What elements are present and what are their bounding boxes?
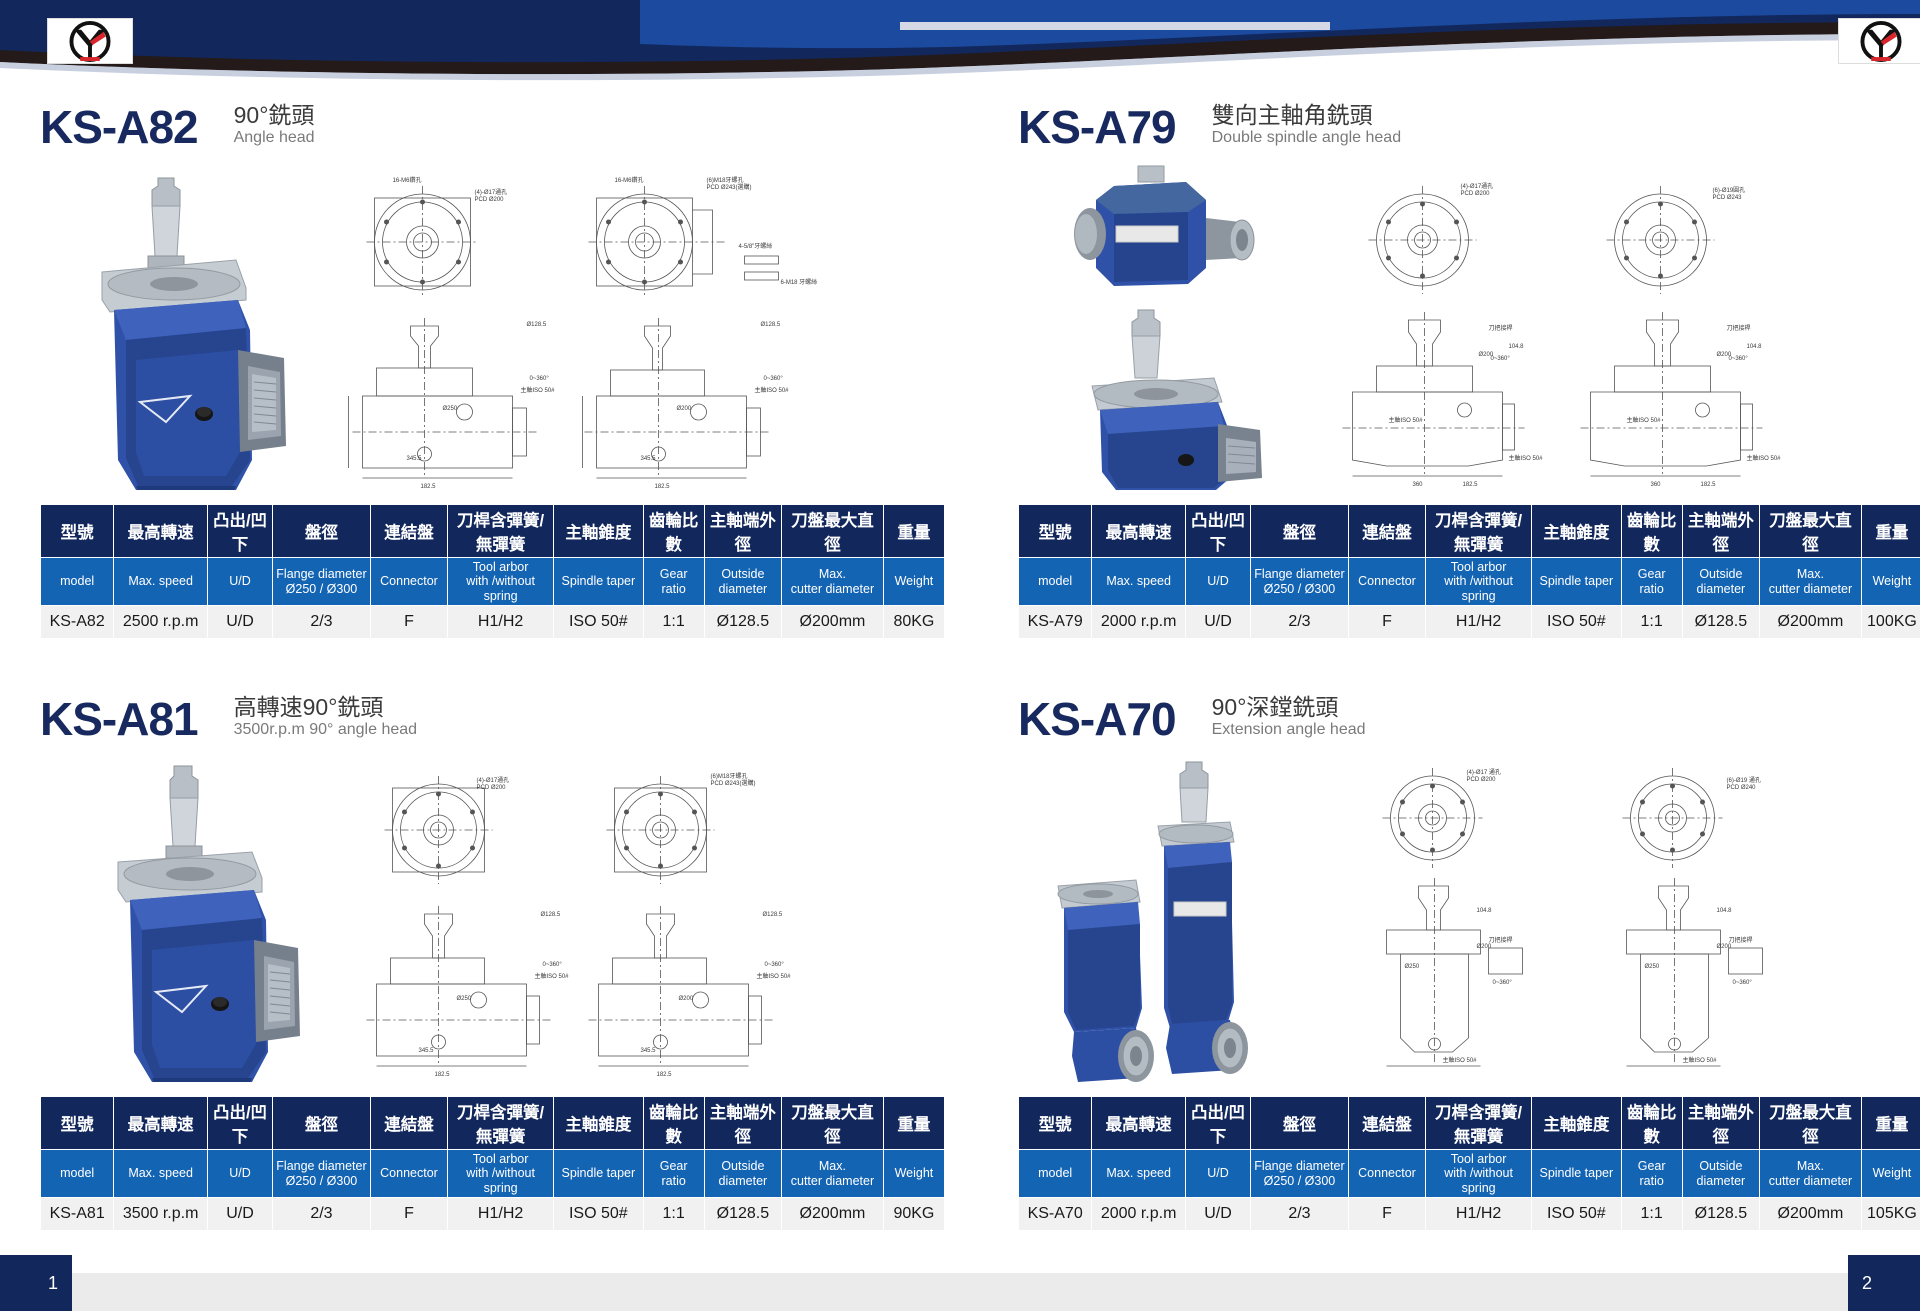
cell-weight: 105KG: [1861, 1198, 1920, 1231]
svg-text:0~360°: 0~360°: [530, 376, 550, 382]
cell-arbor: H1/H2: [448, 606, 554, 639]
technical-drawing-ks-a81: (4)-Ø17通孔PCD Ø200 (6)M18牙螺孔PCD Ø243(選購) …: [314, 752, 945, 1082]
svg-text:(6)-Ø19圓孔: (6)-Ø19圓孔: [1713, 186, 1746, 194]
svg-text:360: 360: [1413, 482, 1424, 488]
cell-flange: 2/3: [1251, 606, 1349, 639]
product-name-cn: 90°銑頭: [234, 102, 315, 128]
cell-ud: U/D: [207, 606, 272, 639]
th-cn-model: 型號: [1019, 505, 1092, 558]
svg-text:(6)M18牙螺孔: (6)M18牙螺孔: [711, 772, 748, 780]
svg-text:0~360°: 0~360°: [1491, 356, 1511, 362]
svg-text:主軸ISO 50#: 主軸ISO 50#: [757, 972, 792, 980]
th-cn-flange: 盤徑: [1251, 1097, 1349, 1150]
drawing-graphic: (4)-Ø17 通孔PCD Ø200 (6)-Ø19 通孔PCD Ø240 刀把…: [1292, 752, 1920, 1082]
svg-text:345.5: 345.5: [407, 456, 423, 462]
th-cn-connector: 連結盤: [370, 505, 447, 558]
th-en-flange: Flange diameterØ250 / Ø300: [1251, 1150, 1349, 1198]
cell-outside: Ø128.5: [704, 1198, 781, 1231]
svg-text:182.5: 182.5: [421, 484, 437, 490]
logo-right: [1838, 18, 1920, 64]
svg-text:104.8: 104.8: [1717, 908, 1733, 914]
page-footer: 1 2: [0, 1255, 1920, 1311]
double-spindle-angle-head-photo: [1018, 160, 1286, 490]
th-en-gear: Gearratio: [643, 558, 704, 606]
th-cn-ud: 凸出/凹下: [207, 505, 272, 558]
th-en-speed: Max. speed: [114, 1150, 208, 1198]
th-en-model: model: [41, 558, 114, 606]
cell-arbor: H1/H2: [1426, 1198, 1532, 1231]
drawing-graphic: (4)-Ø17通孔PCD Ø200 (6)M18牙螺孔PCD Ø243(選購) …: [314, 752, 945, 1082]
cell-arbor: H1/H2: [448, 1198, 554, 1231]
th-en-cutter: Max.cutter diameter: [782, 558, 884, 606]
product-code: KS-A82: [40, 104, 198, 150]
th-en-taper: Spindle taper: [554, 1150, 644, 1198]
th-cn-arbor: 刀桿含彈簧/無彈簧: [1426, 1097, 1532, 1150]
th-cn-flange: 盤徑: [1251, 505, 1349, 558]
table-row: KS-A70 2000 r.p.m U/D 2/3 F H1/H2 ISO 50…: [1019, 1198, 1920, 1231]
svg-text:主軸ISO 50#: 主軸ISO 50#: [535, 972, 570, 980]
th-en-ud: U/D: [207, 1150, 272, 1198]
table-row: KS-A82 2500 r.p.m U/D 2/3 F H1/H2 ISO 50…: [41, 606, 945, 639]
cell-gear: 1:1: [643, 1198, 704, 1231]
th-cn-arbor: 刀桿含彈簧/無彈簧: [1426, 505, 1532, 558]
table-header-cn: 型號 最高轉速 凸出/凹下 盤徑 連結盤 刀桿含彈簧/無彈簧 主軸錐度 齒輪比數…: [41, 505, 945, 558]
th-en-cutter: Max.cutter diameter: [1760, 1150, 1862, 1198]
th-en-outside: Outsidediameter: [704, 558, 781, 606]
svg-text:104.8: 104.8: [1509, 344, 1525, 350]
svg-text:主軸ISO 50#: 主軸ISO 50#: [1683, 1056, 1718, 1064]
product-heading: KS-A79 雙向主軸角銑頭 Double spindle angle head: [1018, 90, 1920, 150]
cell-taper: ISO 50#: [554, 606, 644, 639]
svg-text:0~360°: 0~360°: [765, 962, 785, 968]
th-cn-outside: 主軸端外徑: [1682, 505, 1759, 558]
th-cn-gear: 齒輪比數: [1621, 1097, 1682, 1150]
svg-text:0~360°: 0~360°: [1729, 356, 1749, 362]
th-en-model: model: [41, 1150, 114, 1198]
svg-text:0~360°: 0~360°: [543, 962, 563, 968]
svg-text:PCD Ø200: PCD Ø200: [477, 785, 507, 791]
cell-cutter: Ø200mm: [782, 606, 884, 639]
svg-text:刀把接桿: 刀把接桿: [1489, 324, 1513, 332]
svg-text:主軸ISO 50#: 主軸ISO 50#: [755, 386, 790, 394]
th-cn-taper: 主軸錐度: [554, 1097, 644, 1150]
svg-text:Ø128.5: Ø128.5: [763, 912, 783, 918]
svg-text:Ø200: Ø200: [1717, 352, 1732, 358]
svg-text:345.5: 345.5: [641, 456, 657, 462]
th-cn-taper: 主軸錐度: [1532, 1097, 1622, 1150]
cell-model: KS-A79: [1019, 606, 1092, 639]
svg-text:0~360°: 0~360°: [764, 376, 784, 382]
svg-text:Ø250: Ø250: [443, 406, 458, 412]
svg-text:182.5: 182.5: [655, 484, 671, 490]
svg-text:PCD Ø200: PCD Ø200: [475, 197, 505, 203]
th-cn-gear: 齒輪比數: [643, 1097, 704, 1150]
figure-area: (4)-Ø17通孔PCD Ø200 (6)-Ø19圓孔PCD Ø243 刀把接桿…: [1018, 160, 1920, 490]
product-heading: KS-A81 高轉速90°銑頭 3500r.p.m 90° angle head: [40, 682, 945, 742]
th-cn-speed: 最高轉速: [114, 505, 208, 558]
th-cn-ud: 凸出/凹下: [1185, 505, 1250, 558]
th-en-connector: Connector: [1348, 558, 1425, 606]
th-en-taper: Spindle taper: [554, 558, 644, 606]
th-en-weight: Weight: [883, 1150, 944, 1198]
high-speed-angle-head-photo: [40, 752, 308, 1082]
table-header-en: model Max. speed U/D Flange diameterØ250…: [41, 1150, 945, 1198]
product-heading: KS-A82 90°銑頭 Angle head: [40, 90, 945, 150]
svg-text:PCD Ø200: PCD Ø200: [1461, 191, 1491, 197]
th-en-weight: Weight: [1861, 1150, 1920, 1198]
product-photo-graphic: [1018, 160, 1286, 490]
drawing-graphic: (4)-Ø17通孔PCD Ø200 (6)-Ø19圓孔PCD Ø243 刀把接桿…: [1292, 160, 1920, 490]
product-code: KS-A70: [1018, 696, 1176, 742]
spec-table-ks-a79: 型號 最高轉速 凸出/凹下 盤徑 連結盤 刀桿含彈簧/無彈簧 主軸錐度 齒輪比數…: [1018, 504, 1920, 639]
cell-model: KS-A81: [41, 1198, 114, 1231]
th-en-flange: Flange diameterØ250 / Ø300: [273, 558, 371, 606]
table-row: KS-A79 2000 r.p.m U/D 2/3 F H1/H2 ISO 50…: [1019, 606, 1920, 639]
svg-text:(6)M18牙螺孔: (6)M18牙螺孔: [707, 176, 744, 184]
th-en-ud: U/D: [207, 558, 272, 606]
svg-text:Ø200: Ø200: [677, 406, 692, 412]
th-cn-gear: 齒輪比數: [1621, 505, 1682, 558]
cell-taper: ISO 50#: [1532, 1198, 1622, 1231]
product-name-en: Angle head: [234, 128, 315, 148]
th-en-ud: U/D: [1185, 558, 1250, 606]
svg-text:PCD Ø243(選購): PCD Ø243(選購): [707, 183, 752, 191]
svg-text:PCD Ø240: PCD Ø240: [1727, 785, 1757, 791]
cell-speed: 2500 r.p.m: [114, 606, 208, 639]
cell-speed: 2000 r.p.m: [1092, 606, 1186, 639]
svg-text:104.8: 104.8: [1477, 908, 1493, 914]
figure-area: (4)-Ø17通孔PCD Ø200 (6)M18牙螺孔PCD Ø243(選購) …: [40, 752, 945, 1082]
product-code: KS-A79: [1018, 104, 1176, 150]
product-name-en: Extension angle head: [1212, 720, 1366, 740]
th-cn-model: 型號: [41, 505, 114, 558]
th-cn-connector: 連結盤: [1348, 1097, 1425, 1150]
th-cn-speed: 最高轉速: [1092, 1097, 1186, 1150]
table-header-cn: 型號 最高轉速 凸出/凹下 盤徑 連結盤 刀桿含彈簧/無彈簧 主軸錐度 齒輪比數…: [41, 1097, 945, 1150]
cell-ud: U/D: [1185, 606, 1250, 639]
angle-head-photo: [40, 160, 308, 490]
cell-ud: U/D: [1185, 1198, 1250, 1231]
cell-connector: F: [1348, 606, 1425, 639]
technical-drawing-ks-a79: (4)-Ø17通孔PCD Ø200 (6)-Ø19圓孔PCD Ø243 刀把接桿…: [1292, 160, 1920, 490]
th-en-gear: Gearratio: [643, 1150, 704, 1198]
th-en-ud: U/D: [1185, 1150, 1250, 1198]
th-cn-gear: 齒輪比數: [643, 505, 704, 558]
th-en-flange: Flange diameterØ250 / Ø300: [273, 1150, 371, 1198]
th-cn-taper: 主軸錐度: [554, 505, 644, 558]
svg-text:182.5: 182.5: [657, 1072, 673, 1078]
cell-speed: 2000 r.p.m: [1092, 1198, 1186, 1231]
svg-text:Ø200: Ø200: [1717, 944, 1732, 950]
svg-text:16-M6鑽孔: 16-M6鑽孔: [615, 176, 644, 184]
product-block-ks-a81: KS-A81 高轉速90°銑頭 3500r.p.m 90° angle head: [40, 682, 945, 1231]
svg-text:Ø200: Ø200: [1477, 944, 1492, 950]
cell-gear: 1:1: [1621, 606, 1682, 639]
th-en-speed: Max. speed: [1092, 1150, 1186, 1198]
technical-drawing-ks-a82: 16-M6鑽孔 (4)-Ø17通孔PCD Ø200 16-M6鑽孔 (6)M18…: [314, 160, 945, 490]
header-banner: [0, 0, 1920, 88]
th-en-speed: Max. speed: [114, 558, 208, 606]
cell-taper: ISO 50#: [1532, 606, 1622, 639]
drawing-graphic: 16-M6鑽孔 (4)-Ø17通孔PCD Ø200 16-M6鑽孔 (6)M18…: [314, 160, 945, 490]
svg-text:(4)-Ø17通孔: (4)-Ø17通孔: [1461, 182, 1494, 190]
th-cn-outside: 主軸端外徑: [704, 505, 781, 558]
figure-area: (4)-Ø17 通孔PCD Ø200 (6)-Ø19 通孔PCD Ø240 刀把…: [1018, 752, 1920, 1082]
product-name-en: Double spindle angle head: [1212, 128, 1401, 148]
technical-drawing-ks-a70: (4)-Ø17 通孔PCD Ø200 (6)-Ø19 通孔PCD Ø240 刀把…: [1292, 752, 1920, 1082]
th-en-cutter: Max.cutter diameter: [782, 1150, 884, 1198]
th-en-taper: Spindle taper: [1532, 1150, 1622, 1198]
th-en-model: model: [1019, 558, 1092, 606]
product-name-cn: 雙向主軸角銑頭: [1212, 102, 1401, 128]
th-cn-weight: 重量: [1861, 1097, 1920, 1150]
figure-area: 16-M6鑽孔 (4)-Ø17通孔PCD Ø200 16-M6鑽孔 (6)M18…: [40, 160, 945, 490]
th-cn-flange: 盤徑: [273, 505, 371, 558]
product-block-ks-a82: KS-A82 90°銑頭 Angle head: [40, 90, 945, 639]
cell-model: KS-A70: [1019, 1198, 1092, 1231]
th-en-arbor: Tool arborwith /without spring: [1426, 558, 1532, 606]
svg-text:182.5: 182.5: [435, 1072, 451, 1078]
product-block-ks-a79: KS-A79 雙向主軸角銑頭 Double spindle angle head: [1018, 90, 1920, 639]
product-name-cn: 90°深鏜銑頭: [1212, 694, 1366, 720]
svg-text:刀把接桿: 刀把接桿: [1727, 324, 1751, 332]
th-en-connector: Connector: [370, 558, 447, 606]
product-name-cn: 高轉速90°銑頭: [234, 694, 417, 720]
th-cn-weight: 重量: [883, 1097, 944, 1150]
svg-text:(6)-Ø19 通孔: (6)-Ø19 通孔: [1727, 776, 1761, 784]
cell-model: KS-A82: [41, 606, 114, 639]
th-en-cutter: Max.cutter diameter: [1760, 558, 1862, 606]
th-en-flange: Flange diameterØ250 / Ø300: [1251, 558, 1349, 606]
banner-graphic: [0, 0, 1920, 88]
svg-text:345.5: 345.5: [641, 1048, 657, 1054]
th-cn-speed: 最高轉速: [114, 1097, 208, 1150]
svg-text:Ø200: Ø200: [1479, 352, 1494, 358]
th-cn-cutter: 刀盤最大直徑: [1760, 505, 1862, 558]
th-en-gear: Gearratio: [1621, 1150, 1682, 1198]
cell-cutter: Ø200mm: [1760, 1198, 1862, 1231]
svg-text:Ø128.5: Ø128.5: [527, 322, 547, 328]
th-en-outside: Outsidediameter: [704, 1150, 781, 1198]
svg-text:PCD Ø243(選購): PCD Ø243(選購): [711, 779, 756, 787]
spec-table-ks-a81: 型號 最高轉速 凸出/凹下 盤徑 連結盤 刀桿含彈簧/無彈簧 主軸錐度 齒輪比數…: [40, 1096, 945, 1231]
th-en-arbor: Tool arborwith /without spring: [1426, 1150, 1532, 1198]
logo-left: [47, 18, 133, 64]
svg-text:0~360°: 0~360°: [1733, 980, 1753, 986]
cell-cutter: Ø200mm: [782, 1198, 884, 1231]
footer-bar: [0, 1273, 1920, 1311]
cell-gear: 1:1: [1621, 1198, 1682, 1231]
spec-table-ks-a82: 型號 最高轉速 凸出/凹下 盤徑 連結盤 刀桿含彈簧/無彈簧 主軸錐度 齒輪比數…: [40, 504, 945, 639]
cell-flange: 2/3: [273, 606, 371, 639]
cell-ud: U/D: [207, 1198, 272, 1231]
th-en-outside: Outsidediameter: [1682, 1150, 1759, 1198]
th-en-gear: Gearratio: [1621, 558, 1682, 606]
svg-text:104.8: 104.8: [1747, 344, 1763, 350]
svg-text:360: 360: [1651, 482, 1662, 488]
svg-text:Ø128.5: Ø128.5: [541, 912, 561, 918]
th-cn-outside: 主軸端外徑: [1682, 1097, 1759, 1150]
th-en-outside: Outsidediameter: [1682, 558, 1759, 606]
product-photo-graphic: [40, 752, 308, 1082]
product-name-en: 3500r.p.m 90° angle head: [234, 720, 417, 740]
th-cn-arbor: 刀桿含彈簧/無彈簧: [448, 505, 554, 558]
product-code: KS-A81: [40, 696, 198, 742]
th-cn-connector: 連結盤: [1348, 505, 1425, 558]
th-en-connector: Connector: [370, 1150, 447, 1198]
svg-text:(4)-Ø17通孔: (4)-Ø17通孔: [477, 776, 510, 784]
svg-text:Ø250: Ø250: [1645, 964, 1660, 970]
company-logo-icon: [48, 19, 132, 64]
th-en-weight: Weight: [1861, 558, 1920, 606]
table-header-en: model Max. speed U/D Flange diameterØ250…: [1019, 558, 1920, 606]
svg-text:主軸ISO 50#: 主軸ISO 50#: [1389, 416, 1424, 424]
product-photo-graphic: [1018, 752, 1286, 1082]
th-cn-connector: 連結盤: [370, 1097, 447, 1150]
th-cn-cutter: 刀盤最大直徑: [782, 1097, 884, 1150]
svg-text:刀把接桿: 刀把接桿: [1489, 936, 1513, 944]
svg-text:Ø250: Ø250: [457, 996, 472, 1002]
th-cn-taper: 主軸錐度: [1532, 505, 1622, 558]
th-cn-weight: 重量: [1861, 505, 1920, 558]
cell-connector: F: [370, 606, 447, 639]
th-cn-weight: 重量: [883, 505, 944, 558]
extension-angle-head-photo: [1018, 752, 1286, 1082]
cell-connector: F: [1348, 1198, 1425, 1231]
cell-connector: F: [370, 1198, 447, 1231]
svg-text:主軸ISO 50#: 主軸ISO 50#: [1627, 416, 1662, 424]
th-cn-flange: 盤徑: [273, 1097, 371, 1150]
svg-text:PCD Ø200: PCD Ø200: [1467, 777, 1497, 783]
th-en-arbor: Tool arborwith /without spring: [448, 1150, 554, 1198]
svg-text:0~360°: 0~360°: [1493, 980, 1513, 986]
th-cn-ud: 凸出/凹下: [207, 1097, 272, 1150]
th-cn-outside: 主軸端外徑: [704, 1097, 781, 1150]
cell-speed: 3500 r.p.m: [114, 1198, 208, 1231]
cell-flange: 2/3: [1251, 1198, 1349, 1231]
spec-table-ks-a70: 型號 最高轉速 凸出/凹下 盤徑 連結盤 刀桿含彈簧/無彈簧 主軸錐度 齒輪比數…: [1018, 1096, 1920, 1231]
th-cn-ud: 凸出/凹下: [1185, 1097, 1250, 1150]
page-number-left: 1: [0, 1255, 72, 1311]
table-header-en: model Max. speed U/D Flange diameterØ250…: [1019, 1150, 1920, 1198]
cell-gear: 1:1: [643, 606, 704, 639]
svg-text:4-5/8"牙螺絲: 4-5/8"牙螺絲: [739, 242, 773, 250]
cell-weight: 90KG: [883, 1198, 944, 1231]
svg-text:182.5: 182.5: [1701, 482, 1717, 488]
cell-flange: 2/3: [273, 1198, 371, 1231]
svg-text:主軸ISO 50#: 主軸ISO 50#: [1443, 1056, 1478, 1064]
svg-text:主軸ISO 50#: 主軸ISO 50#: [1509, 454, 1544, 462]
product-heading: KS-A70 90°深鏜銑頭 Extension angle head: [1018, 682, 1920, 742]
company-logo-icon: [1839, 19, 1920, 64]
page-number-right: 2: [1848, 1255, 1920, 1311]
cell-taper: ISO 50#: [554, 1198, 644, 1231]
th-en-model: model: [1019, 1150, 1092, 1198]
th-en-taper: Spindle taper: [1532, 558, 1622, 606]
svg-text:Ø200: Ø200: [679, 996, 694, 1002]
svg-text:16-M6鑽孔: 16-M6鑽孔: [393, 176, 422, 184]
svg-text:(4)-Ø17通孔: (4)-Ø17通孔: [475, 188, 508, 196]
th-en-connector: Connector: [1348, 1150, 1425, 1198]
svg-text:345.5: 345.5: [419, 1048, 435, 1054]
svg-text:(4)-Ø17 通孔: (4)-Ø17 通孔: [1467, 768, 1501, 776]
table-header-cn: 型號 最高轉速 凸出/凹下 盤徑 連結盤 刀桿含彈簧/無彈簧 主軸錐度 齒輪比數…: [1019, 1097, 1920, 1150]
svg-text:182.5: 182.5: [1463, 482, 1479, 488]
svg-text:6-M18 牙螺絲: 6-M18 牙螺絲: [781, 278, 818, 286]
cell-cutter: Ø200mm: [1760, 606, 1862, 639]
svg-text:主軸ISO 50#: 主軸ISO 50#: [1747, 454, 1782, 462]
th-cn-speed: 最高轉速: [1092, 505, 1186, 558]
th-en-arbor: Tool arborwith /without spring: [448, 558, 554, 606]
table-header-en: model Max. speed U/D Flange diameterØ250…: [41, 558, 945, 606]
product-photo-graphic: [40, 160, 308, 490]
cell-outside: Ø128.5: [1682, 1198, 1759, 1231]
svg-text:Ø250: Ø250: [1405, 964, 1420, 970]
th-cn-cutter: 刀盤最大直徑: [782, 505, 884, 558]
th-cn-model: 型號: [1019, 1097, 1092, 1150]
th-cn-cutter: 刀盤最大直徑: [1760, 1097, 1862, 1150]
cell-weight: 100KG: [1861, 606, 1920, 639]
th-cn-model: 型號: [41, 1097, 114, 1150]
th-en-speed: Max. speed: [1092, 558, 1186, 606]
svg-text:PCD Ø243: PCD Ø243: [1713, 195, 1743, 201]
cell-outside: Ø128.5: [1682, 606, 1759, 639]
cell-arbor: H1/H2: [1426, 606, 1532, 639]
catalog-page: KS-A82 90°銑頭 Angle head: [0, 0, 1920, 1311]
table-header-cn: 型號 最高轉速 凸出/凹下 盤徑 連結盤 刀桿含彈簧/無彈簧 主軸錐度 齒輪比數…: [1019, 505, 1920, 558]
product-block-ks-a70: KS-A70 90°深鏜銑頭 Extension angle head: [1018, 682, 1920, 1231]
cell-weight: 80KG: [883, 606, 944, 639]
th-cn-arbor: 刀桿含彈簧/無彈簧: [448, 1097, 554, 1150]
table-row: KS-A81 3500 r.p.m U/D 2/3 F H1/H2 ISO 50…: [41, 1198, 945, 1231]
svg-text:Ø128.5: Ø128.5: [761, 322, 781, 328]
th-en-weight: Weight: [883, 558, 944, 606]
cell-outside: Ø128.5: [704, 606, 781, 639]
svg-text:主軸ISO 50#: 主軸ISO 50#: [521, 386, 556, 394]
svg-text:刀把接桿: 刀把接桿: [1729, 936, 1753, 944]
